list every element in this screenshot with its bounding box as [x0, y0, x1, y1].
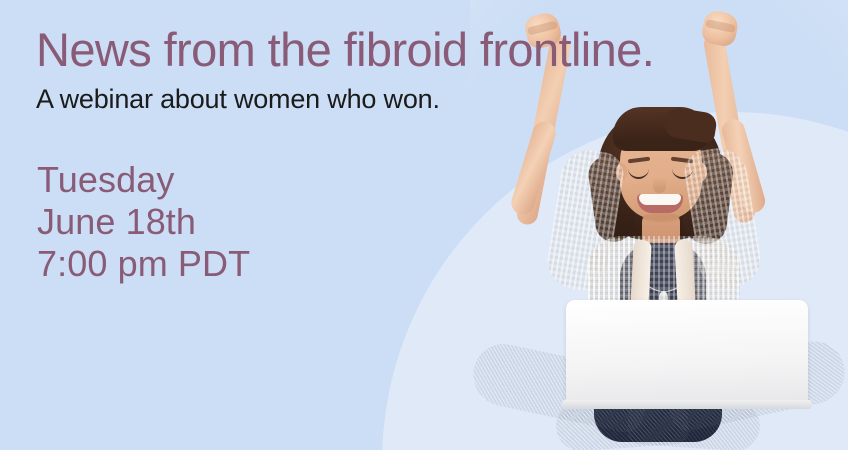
laptop-lid-shape — [566, 300, 808, 404]
event-date: June 18th — [37, 201, 250, 243]
knuckle-line-right — [705, 19, 736, 33]
smiling-mouth-shape — [637, 194, 683, 213]
event-day: Tuesday — [37, 159, 250, 201]
event-details: Tuesday June 18th 7:00 pm PDT — [37, 159, 250, 285]
forearm-left-shape — [508, 119, 558, 218]
banner-subheadline: A webinar about women who won. — [36, 83, 440, 115]
laptop-base-shape — [562, 400, 812, 409]
nose-shape — [653, 178, 666, 193]
webinar-promo-banner: News from the fibroid frontline. A webin… — [0, 0, 848, 450]
chin-shadow-shape — [642, 213, 680, 222]
teeth-shape — [639, 194, 681, 205]
banner-headline: News from the fibroid frontline. — [36, 24, 654, 76]
event-time: 7:00 pm PDT — [37, 243, 250, 285]
